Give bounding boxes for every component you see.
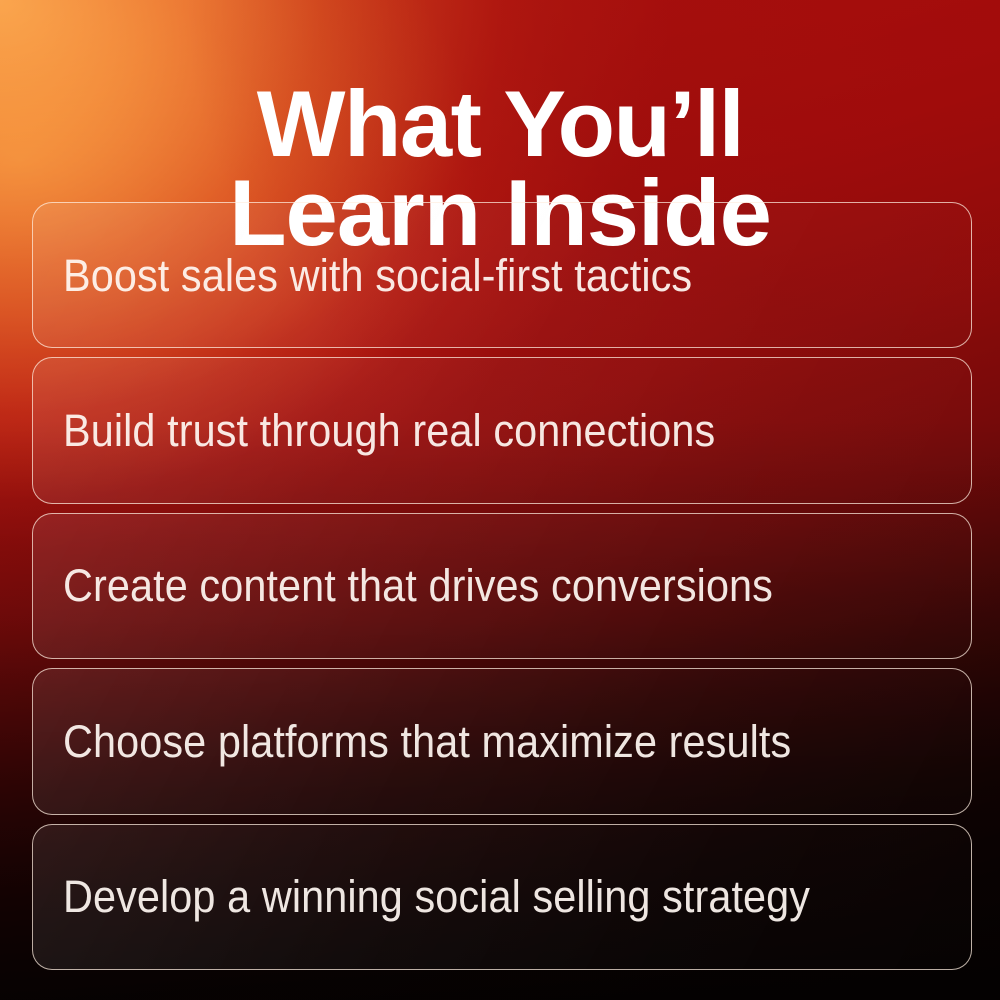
benefit-card-5[interactable]: Develop a winning social selling strateg… xyxy=(32,824,972,970)
benefit-card-label: Build trust through real connections xyxy=(63,407,715,454)
poster-canvas: What You’ll Learn Inside Boost sales wit… xyxy=(0,0,1000,1000)
benefit-card-2[interactable]: Build trust through real connections xyxy=(32,357,972,503)
benefit-card-1[interactable]: Boost sales with social-first tactics xyxy=(32,202,972,348)
benefit-card-4[interactable]: Choose platforms that maximize results xyxy=(32,668,972,814)
benefit-card-label: Boost sales with social-first tactics xyxy=(63,252,692,299)
benefit-card-list: Boost sales with social-first tactics Bu… xyxy=(32,202,972,970)
benefit-card-label: Create content that drives conversions xyxy=(63,562,773,609)
poster-content: What You’ll Learn Inside Boost sales wit… xyxy=(0,0,1000,1000)
page-title-line-1: What You’ll xyxy=(0,79,1000,168)
benefit-card-label: Choose platforms that maximize results xyxy=(63,718,791,765)
benefit-card-3[interactable]: Create content that drives conversions xyxy=(32,513,972,659)
benefit-card-label: Develop a winning social selling strateg… xyxy=(63,873,810,920)
